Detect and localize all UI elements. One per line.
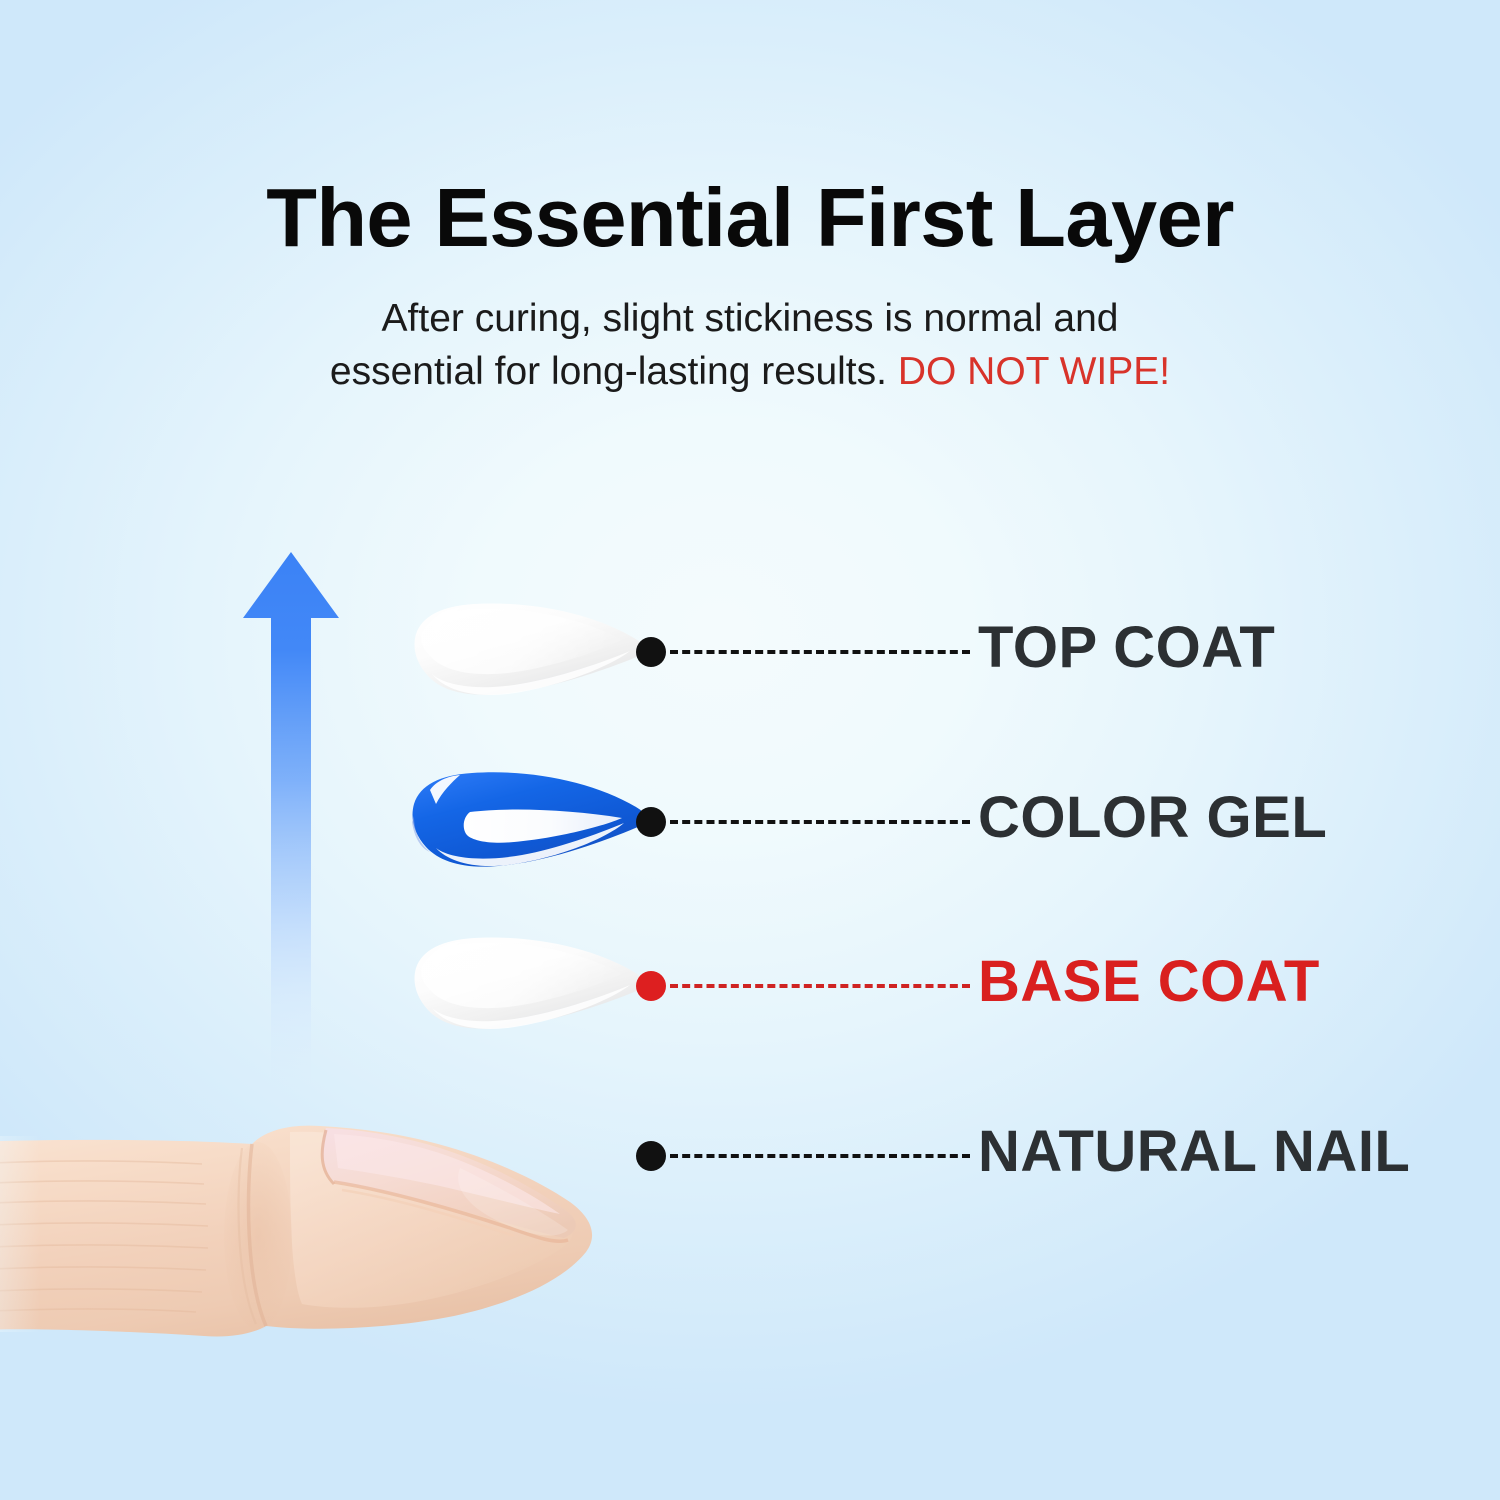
layer-label-base-coat: BASE COAT bbox=[978, 953, 1320, 1011]
infographic-canvas: The Essential First Layer After curing, … bbox=[0, 0, 1500, 1500]
leader-dot bbox=[636, 971, 666, 1001]
leader-dot bbox=[636, 637, 666, 667]
subtitle-line-2-text: essential for long-lasting results. bbox=[330, 350, 887, 393]
header-block: The Essential First Layer After curing, … bbox=[0, 0, 1500, 398]
leader-dashes bbox=[670, 820, 970, 824]
layer-label-natural-nail: NATURAL NAIL bbox=[978, 1123, 1410, 1181]
finger-illustration bbox=[0, 1118, 650, 1500]
subtitle: After curing, slight stickiness is norma… bbox=[0, 259, 1500, 398]
layer-label-color-gel: COLOR GEL bbox=[978, 789, 1327, 847]
layer-label-top-coat: TOP COAT bbox=[978, 619, 1275, 677]
subtitle-line-1: After curing, slight stickiness is norma… bbox=[0, 293, 1500, 346]
do-not-wipe-warning: DO NOT WIPE! bbox=[898, 350, 1170, 393]
nail-tip-white-icon bbox=[408, 924, 658, 1048]
subtitle-line-2: essential for long-lasting results. DO N… bbox=[0, 346, 1500, 399]
leader-dashes bbox=[670, 650, 970, 654]
upward-arrow-icon bbox=[232, 548, 350, 1093]
leader-dashes bbox=[670, 984, 970, 988]
page-title: The Essential First Layer bbox=[0, 176, 1500, 259]
leader-dashes bbox=[670, 1154, 970, 1158]
nail-tip-blue-icon bbox=[408, 760, 658, 884]
leader-dot bbox=[636, 807, 666, 837]
nail-tip-white-icon bbox=[408, 590, 658, 714]
